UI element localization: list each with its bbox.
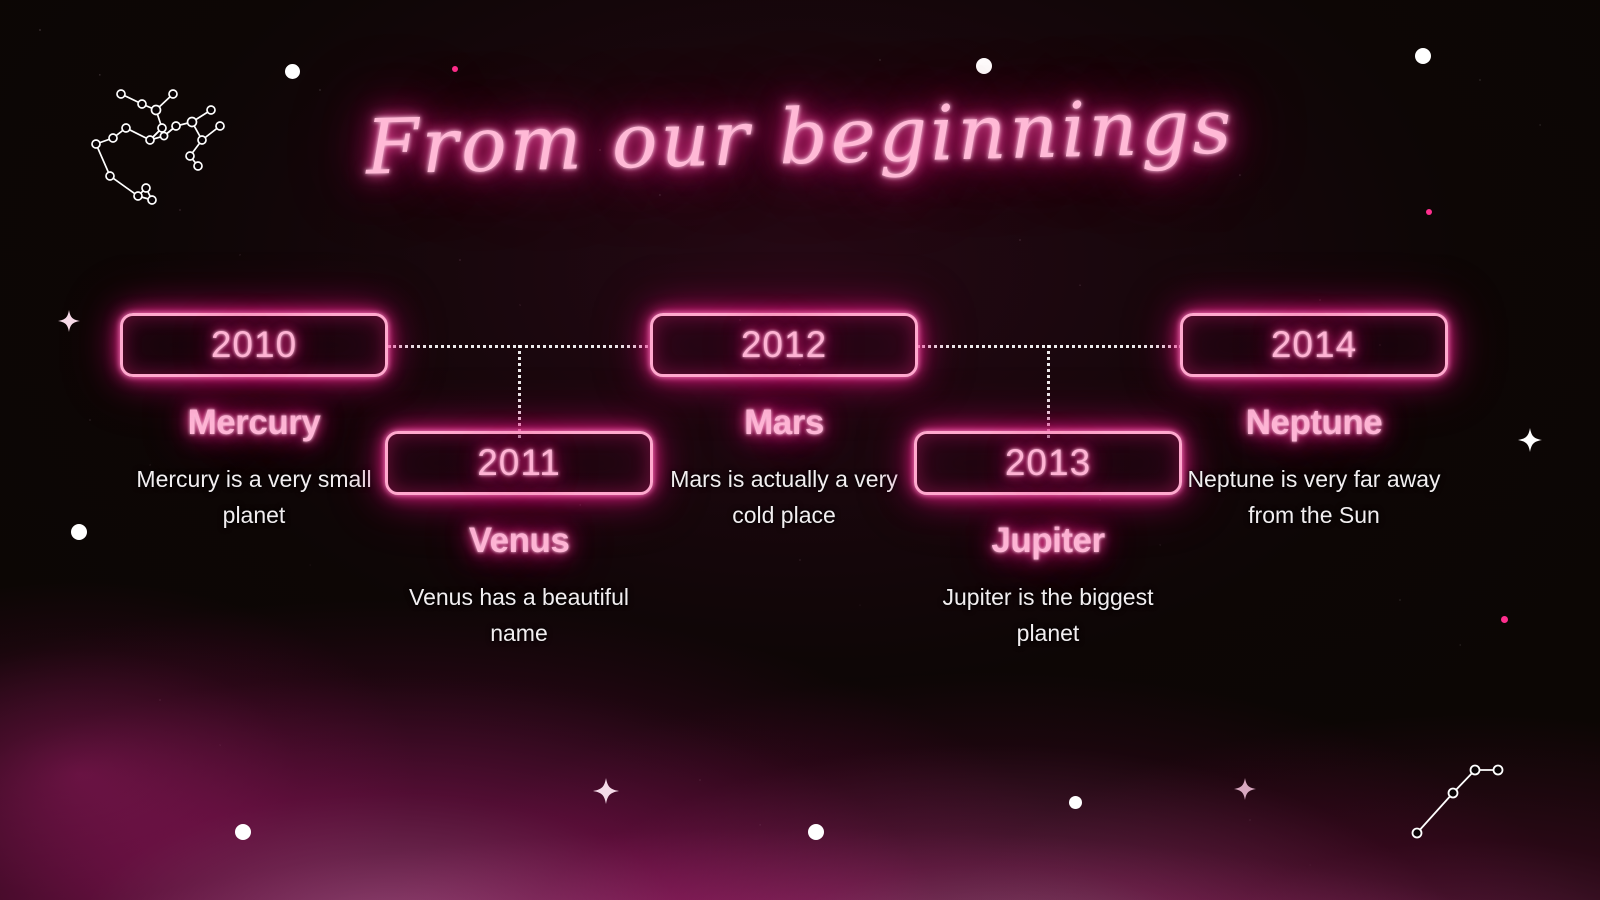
slide-canvas: From our beginnings 2010 Mercury Mercury… (0, 0, 1600, 900)
year-box-2014[interactable]: 2014 (1180, 313, 1448, 377)
sparkle-star-icon (58, 310, 80, 332)
sparkle-star-icon (1234, 778, 1256, 800)
planet-description: Neptune is very far away from the Sun (1180, 461, 1448, 534)
year-label: 2010 (211, 324, 297, 366)
year-label: 2011 (477, 442, 561, 484)
planet-name: Neptune (1180, 403, 1448, 443)
star-dot (285, 64, 300, 79)
year-label: 2012 (741, 324, 827, 366)
year-box-2010[interactable]: 2010 (120, 313, 388, 377)
star-dot-pink (452, 66, 458, 72)
year-box-2012[interactable]: 2012 (650, 313, 918, 377)
planet-name: Jupiter (914, 521, 1182, 561)
timeline-item-2013[interactable]: 2013 Jupiter Jupiter is the biggest plan… (914, 431, 1182, 652)
year-label: 2014 (1271, 324, 1357, 366)
connector-down-2011 (518, 345, 521, 438)
connector-2010-2012 (388, 345, 653, 348)
planet-description: Mars is actually a very cold place (650, 461, 918, 534)
planet-description: Jupiter is the biggest planet (914, 579, 1182, 652)
connector-down-2013 (1047, 345, 1050, 438)
planet-name: Venus (385, 521, 653, 561)
timeline-item-2011[interactable]: 2011 Venus Venus has a beautiful name (385, 431, 653, 652)
page-title: From our beginnings (0, 72, 1600, 200)
timeline-item-2012[interactable]: 2012 Mars Mars is actually a very cold p… (650, 313, 918, 534)
timeline-item-2010[interactable]: 2010 Mercury Mercury is a very small pla… (120, 313, 388, 534)
constellation-bottom-right-icon (1405, 725, 1515, 845)
star-dot (1415, 48, 1431, 64)
timeline-item-2014[interactable]: 2014 Neptune Neptune is very far away fr… (1180, 313, 1448, 534)
star-dot (808, 824, 824, 840)
star-dot-pink (1501, 616, 1508, 623)
year-box-2011[interactable]: 2011 (385, 431, 653, 495)
star-dot (976, 58, 992, 74)
connector-2012-2014 (917, 345, 1182, 348)
star-dot (1069, 796, 1082, 809)
sparkle-star-icon (1518, 428, 1542, 452)
year-box-2013[interactable]: 2013 (914, 431, 1182, 495)
planet-name: Mars (650, 403, 918, 443)
planet-name: Mercury (120, 403, 388, 443)
star-dot (235, 824, 251, 840)
star-dot-pink (1426, 209, 1432, 215)
planet-description: Venus has a beautiful name (385, 579, 653, 652)
year-label: 2013 (1005, 442, 1091, 484)
planet-description: Mercury is a very small planet (120, 461, 388, 534)
star-dot (71, 524, 87, 540)
sparkle-star-icon (593, 778, 619, 804)
